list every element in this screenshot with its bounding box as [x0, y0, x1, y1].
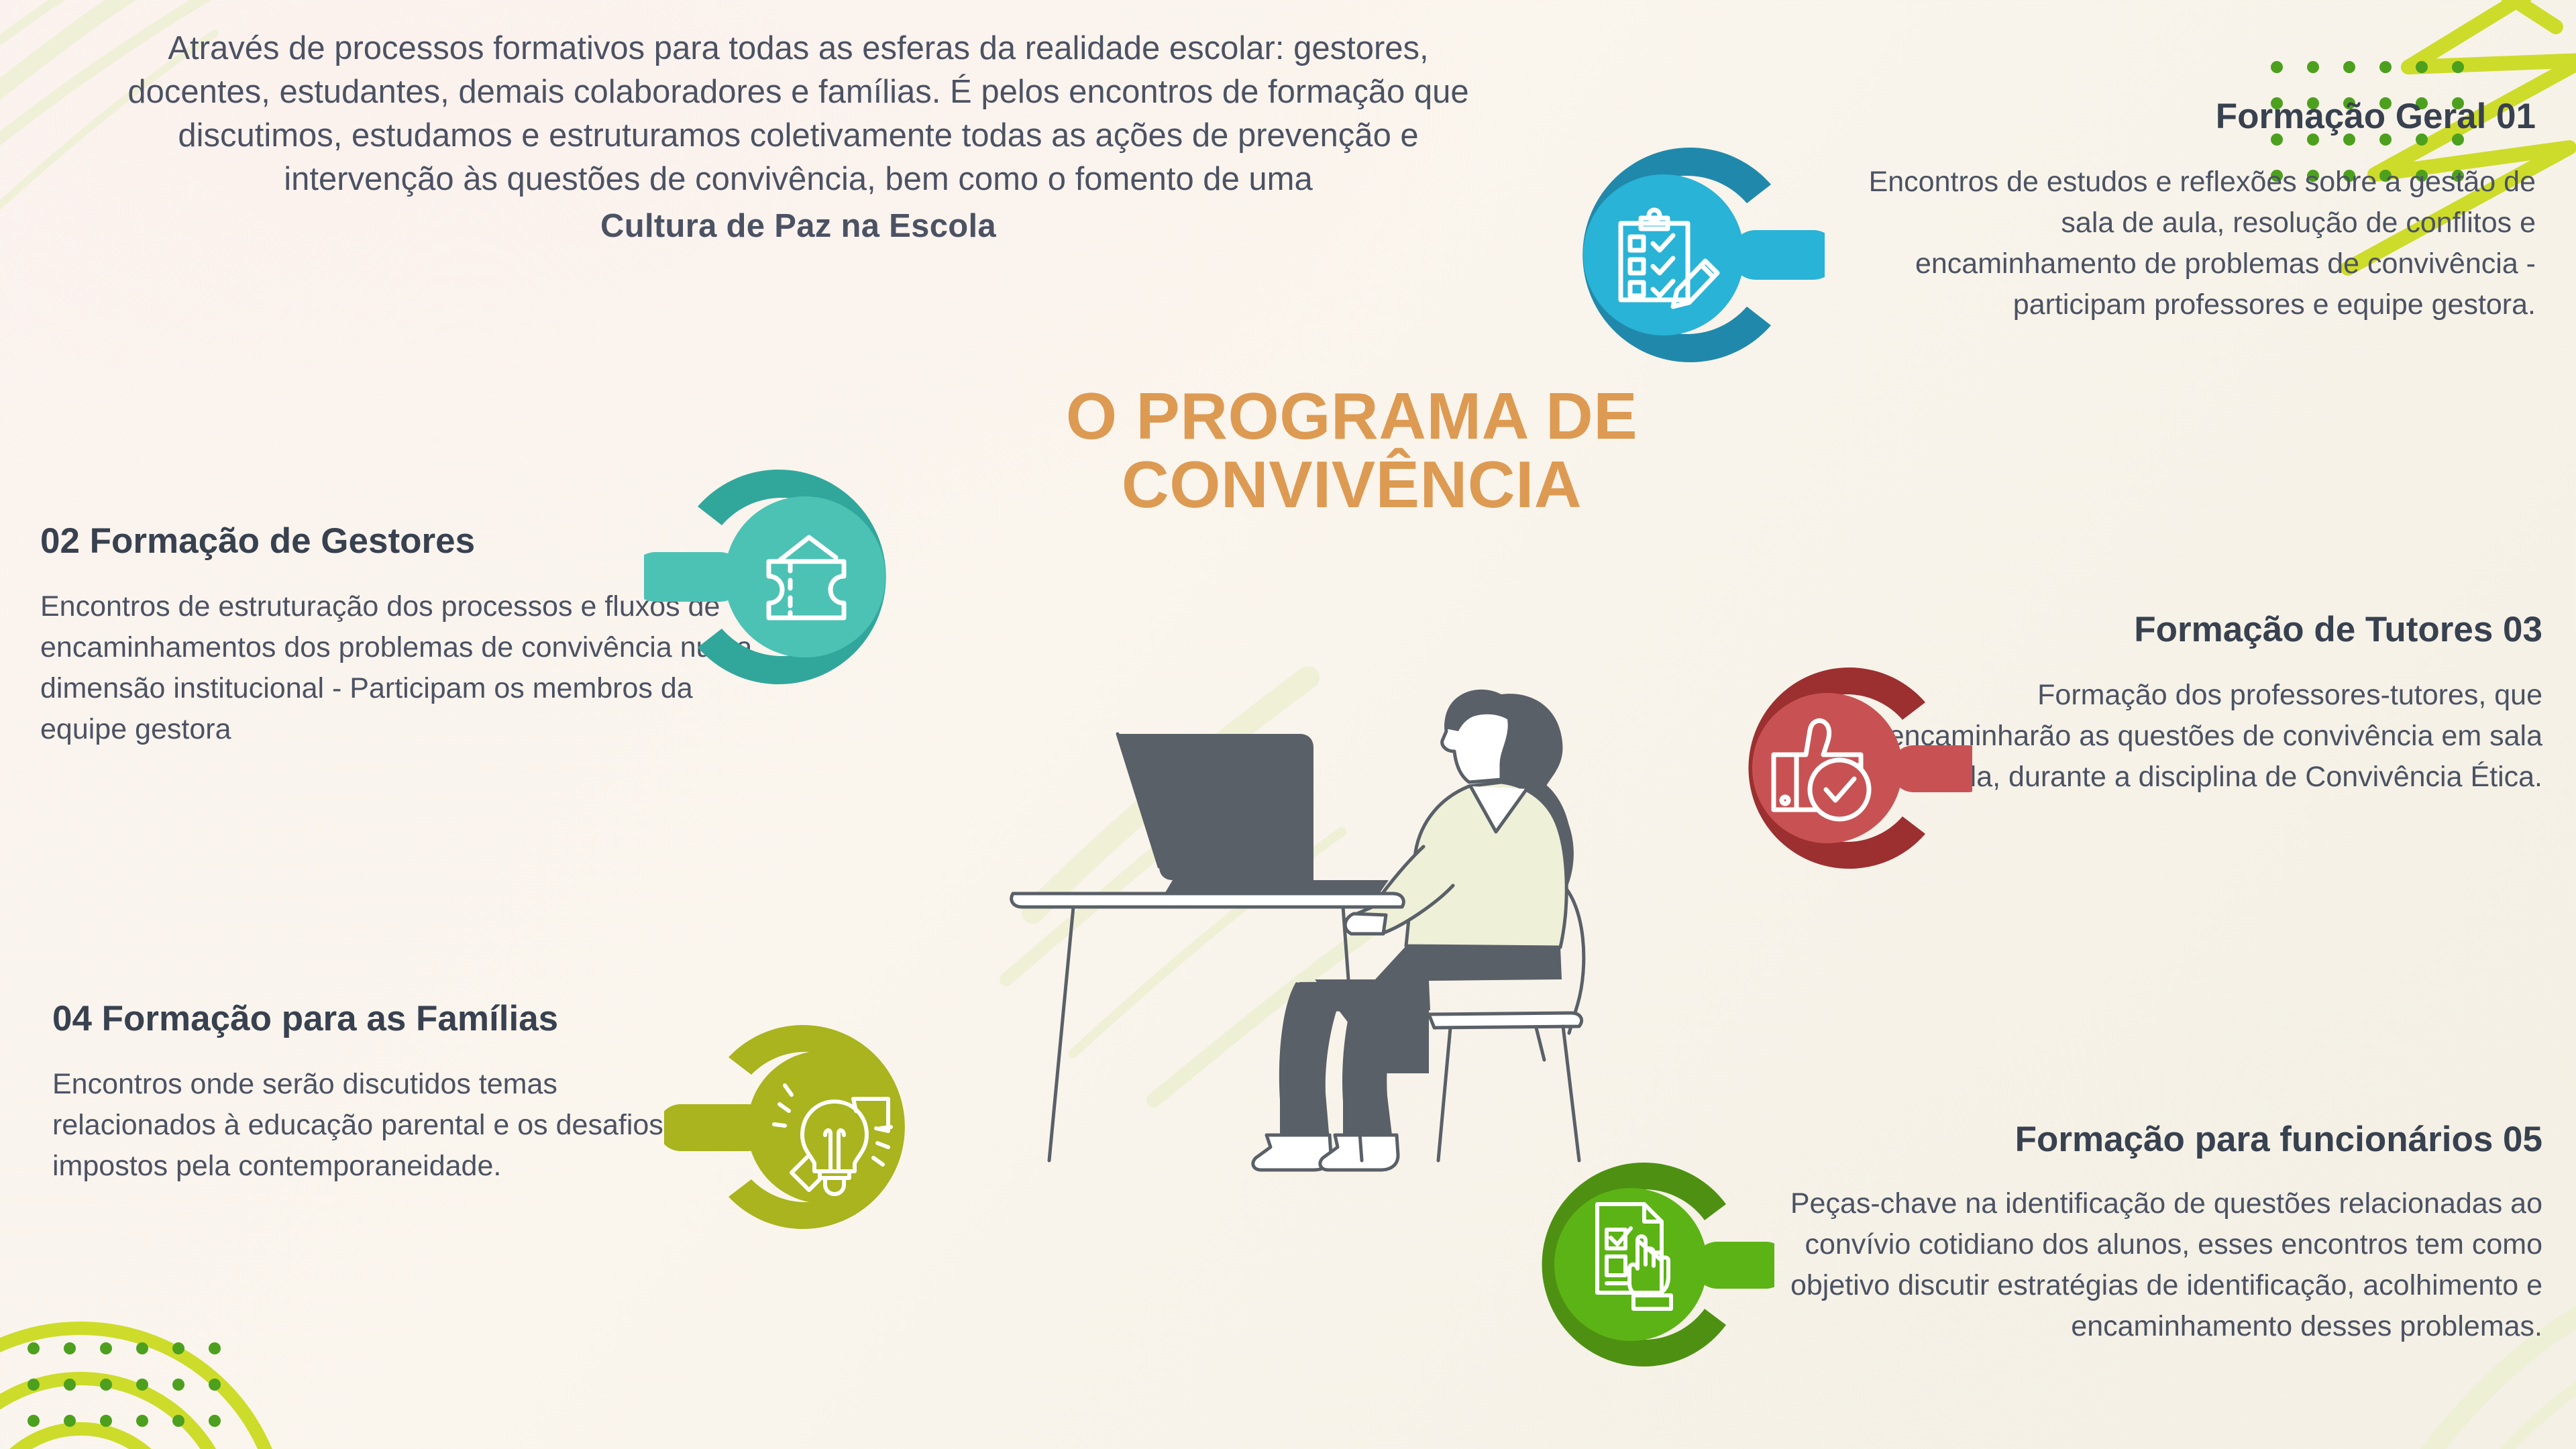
item-05-heading: Formação para funcionários 05 — [1784, 1120, 2542, 1159]
item-block-01: Formação Geral 01 Encontros de estudos e… — [1851, 97, 2536, 325]
item-03-badge[interactable] — [1704, 641, 1972, 896]
page-title-line-2: CONVIVÊNCIA — [1122, 447, 1582, 521]
item-03-body: Formação dos professores-tutores, que en… — [1872, 675, 2542, 798]
intro-text: Através de processos formativos para tod… — [127, 30, 1468, 197]
badge-tab-01 — [1731, 230, 1825, 280]
badge-tab-04 — [664, 1104, 771, 1151]
item-04-heading: 04 Formação para as Famílias — [52, 1000, 730, 1038]
item-block-05: Formação para funcionários 05 Peças-chav… — [1784, 1120, 2542, 1347]
item-01-badge[interactable] — [1529, 117, 1825, 392]
intro-emphasis: Cultura de Paz na Escola — [107, 205, 1489, 248]
item-02-badge[interactable] — [644, 439, 939, 714]
item-01-heading: Formação Geral 01 — [1851, 97, 2536, 136]
item-block-03: Formação de Tutores 03 Formação dos prof… — [1872, 610, 2542, 798]
item-05-badge[interactable] — [1506, 1130, 1774, 1399]
badge-tab-02 — [644, 552, 745, 602]
badge-fill-02 — [724, 496, 885, 657]
item-05-body: Peças-chave na identificação de questões… — [1784, 1183, 2542, 1347]
item-04-body: Encontros onde serão discutidos temas re… — [52, 1064, 696, 1187]
item-block-04: 04 Formação para as Famílias Encontros o… — [52, 1000, 730, 1187]
illustration-woman-at-desk — [1000, 631, 1630, 1187]
badge-fill-01 — [1583, 174, 1744, 335]
page-title: O PROGRAMA DE CONVIVÊNCIA — [926, 382, 1778, 519]
arcs-bottom-left-icon — [0, 1154, 342, 1449]
intro-paragraph: Através de processos formativos para tod… — [107, 27, 1489, 248]
badge-tab-05 — [1694, 1242, 1774, 1289]
item-04-badge[interactable] — [664, 993, 946, 1261]
item-01-body: Encontros de estudos e reflexões sobre a… — [1851, 162, 2536, 325]
woman-working-at-desk-icon — [1000, 631, 1630, 1187]
item-03-heading: Formação de Tutores 03 — [1872, 610, 2542, 649]
badge-tab-03 — [1890, 745, 1972, 792]
